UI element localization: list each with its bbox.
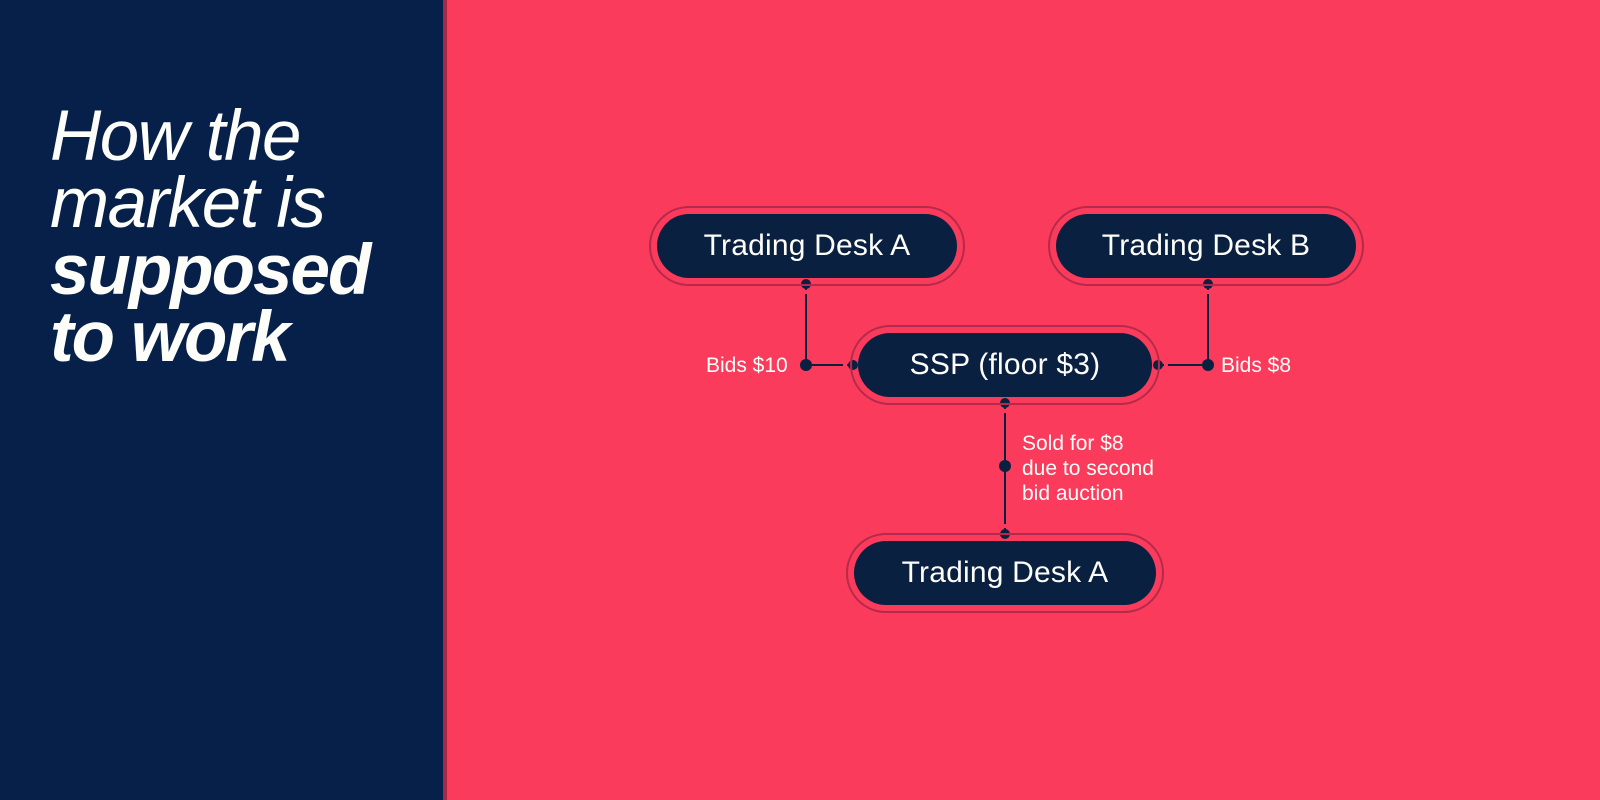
slide-canvas: How the market is supposed to work [0,0,1600,800]
title-line-1: How the [50,103,440,170]
title-line-2: market is [50,170,440,237]
edge-label-bids-right: Bids $8 [1221,353,1291,378]
outcome-line-2: due to second [1022,456,1154,481]
node-label: Trading Desk A [704,229,911,263]
node-ssp[interactable]: SSP (floor $3) [858,333,1152,397]
node-trading-desk-a-bottom[interactable]: Trading Desk A [854,541,1156,605]
title-line-4: to work [50,304,440,371]
title-line-3: supposed [50,237,440,304]
diagram-panel [447,0,1600,800]
outcome-line-3: bid auction [1022,481,1154,506]
page-title: How the market is supposed to work [50,103,440,371]
edge-label-bids-left: Bids $10 [706,353,788,378]
node-label: Trading Desk A [902,556,1109,590]
node-label: Trading Desk B [1102,229,1310,263]
outcome-line-1: Sold for $8 [1022,431,1154,456]
node-trading-desk-b[interactable]: Trading Desk B [1056,214,1356,278]
title-panel: How the market is supposed to work [0,0,443,800]
node-label: SSP (floor $3) [910,348,1101,382]
panel-divider [443,0,447,800]
edge-label-outcome: Sold for $8 due to second bid auction [1022,431,1154,506]
node-trading-desk-a-top[interactable]: Trading Desk A [657,214,957,278]
